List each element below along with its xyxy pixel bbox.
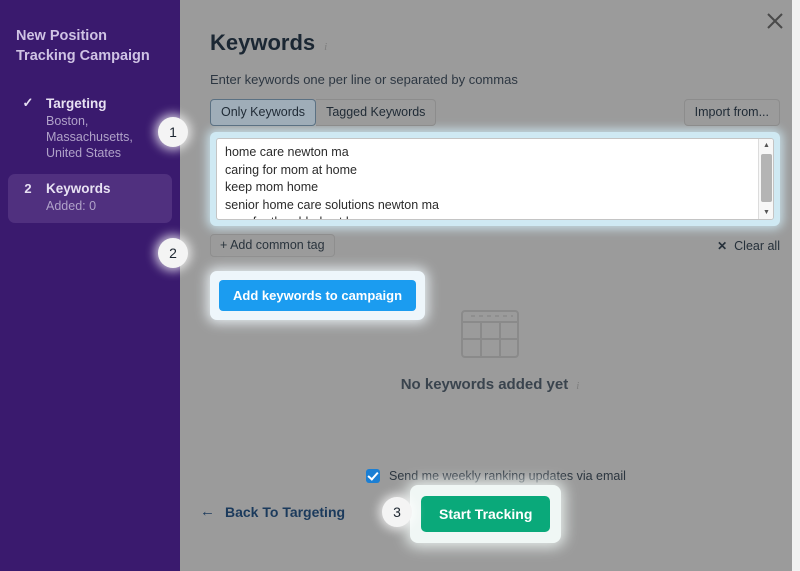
wizard-sidebar: New Position Tracking Campaign ✓ Targeti…	[0, 0, 180, 571]
empty-state-label: No keywords added yet	[401, 376, 569, 393]
page-title-text: Keywords	[210, 30, 315, 56]
sidebar-step-keywords[interactable]: 2 Keywords Added: 0	[8, 174, 172, 223]
keyword-line: keep mom home	[225, 179, 765, 197]
back-to-targeting-link[interactable]: ← Back To Targeting	[200, 503, 345, 520]
tab-only-keywords[interactable]: Only Keywords	[210, 99, 316, 126]
keywords-step-content: Keywords i Enter keywords one per line o…	[210, 0, 780, 320]
step-number: 2	[22, 181, 34, 196]
table-grid-row-divider	[463, 338, 517, 340]
close-icon[interactable]	[762, 8, 788, 34]
arrow-left-icon: ←	[200, 503, 215, 520]
tabs-row: Only Keywords Tagged Keywords Import fro…	[210, 99, 780, 126]
table-grid-icon	[461, 310, 519, 358]
info-icon[interactable]: i	[324, 41, 327, 53]
back-to-targeting-label: Back To Targeting	[225, 504, 345, 520]
keyword-mode-tabs: Only Keywords Tagged Keywords	[210, 99, 436, 126]
empty-state: No keywords added yet i	[180, 310, 800, 393]
weekly-updates-row: Send me weekly ranking updates via email	[366, 469, 626, 483]
wizard-footer: Send me weekly ranking updates via email…	[180, 461, 800, 571]
keywords-textarea[interactable]: home care newton ma caring for mom at ho…	[216, 138, 774, 220]
campaign-wizard-modal: New Position Tracking Campaign ✓ Targeti…	[0, 0, 800, 571]
sidebar-step-targeting[interactable]: ✓ Targeting Boston, Massachusetts, Unite…	[8, 88, 172, 170]
sidebar-step-targeting-head: ✓ Targeting	[22, 95, 158, 111]
start-tracking-button[interactable]: Start Tracking	[421, 496, 550, 532]
sidebar-step-keywords-label: Keywords	[46, 181, 111, 196]
scrollbar-thumb[interactable]	[761, 154, 772, 202]
campaign-title: New Position Tracking Campaign	[0, 26, 180, 66]
add-common-tag-button[interactable]: + Add common tag	[210, 234, 335, 257]
page-scrollbar[interactable]	[792, 0, 800, 571]
table-grid-header-dash	[471, 315, 513, 317]
page-title: Keywords i	[210, 30, 780, 56]
clear-icon: ✕	[717, 239, 727, 253]
weekly-updates-label: Send me weekly ranking updates via email	[389, 469, 626, 483]
tab-tagged-keywords[interactable]: Tagged Keywords	[316, 99, 436, 126]
sidebar-step-targeting-label: Targeting	[46, 96, 107, 111]
keyword-line: home care newton ma	[225, 144, 765, 162]
empty-state-text: No keywords added yet i	[401, 376, 580, 393]
import-from-button[interactable]: Import from...	[684, 99, 780, 126]
scroll-down-icon[interactable]: ▼	[759, 206, 774, 219]
keyword-line: care for the elderly at home	[225, 214, 765, 220]
info-icon[interactable]: i	[576, 380, 579, 392]
callout-badge-3: 3	[382, 497, 412, 527]
scroll-up-icon[interactable]: ▲	[759, 139, 774, 152]
keywords-textarea-lines: home care newton ma caring for mom at ho…	[217, 139, 773, 220]
callout-badge-2: 2	[158, 238, 188, 268]
sidebar-step-targeting-sub: Boston, Massachusetts, United States	[46, 113, 158, 161]
textarea-toolbar: + Add common tag ✕ Clear all	[210, 234, 780, 257]
keyword-line: senior home care solutions newton ma	[225, 197, 765, 215]
callout-badge-1: 1	[158, 117, 188, 147]
add-keywords-to-campaign-button[interactable]: Add keywords to campaign	[219, 280, 416, 311]
sidebar-step-keywords-head: 2 Keywords	[22, 181, 158, 196]
wizard-main-panel: Keywords i Enter keywords one per line o…	[180, 0, 800, 571]
keyword-line: caring for mom at home	[225, 162, 765, 180]
clear-all-label: Clear all	[734, 239, 780, 253]
sidebar-step-keywords-sub: Added: 0	[46, 198, 158, 214]
check-icon: ✓	[22, 95, 34, 111]
weekly-updates-checkbox[interactable]	[366, 469, 380, 483]
clear-all-button[interactable]: ✕ Clear all	[717, 239, 780, 253]
keywords-textarea-highlight: home care newton ma caring for mom at ho…	[210, 132, 780, 226]
start-tracking-highlight: Start Tracking	[410, 485, 561, 543]
textarea-scrollbar[interactable]: ▲ ▼	[758, 139, 773, 219]
page-subtitle: Enter keywords one per line or separated…	[210, 72, 780, 87]
